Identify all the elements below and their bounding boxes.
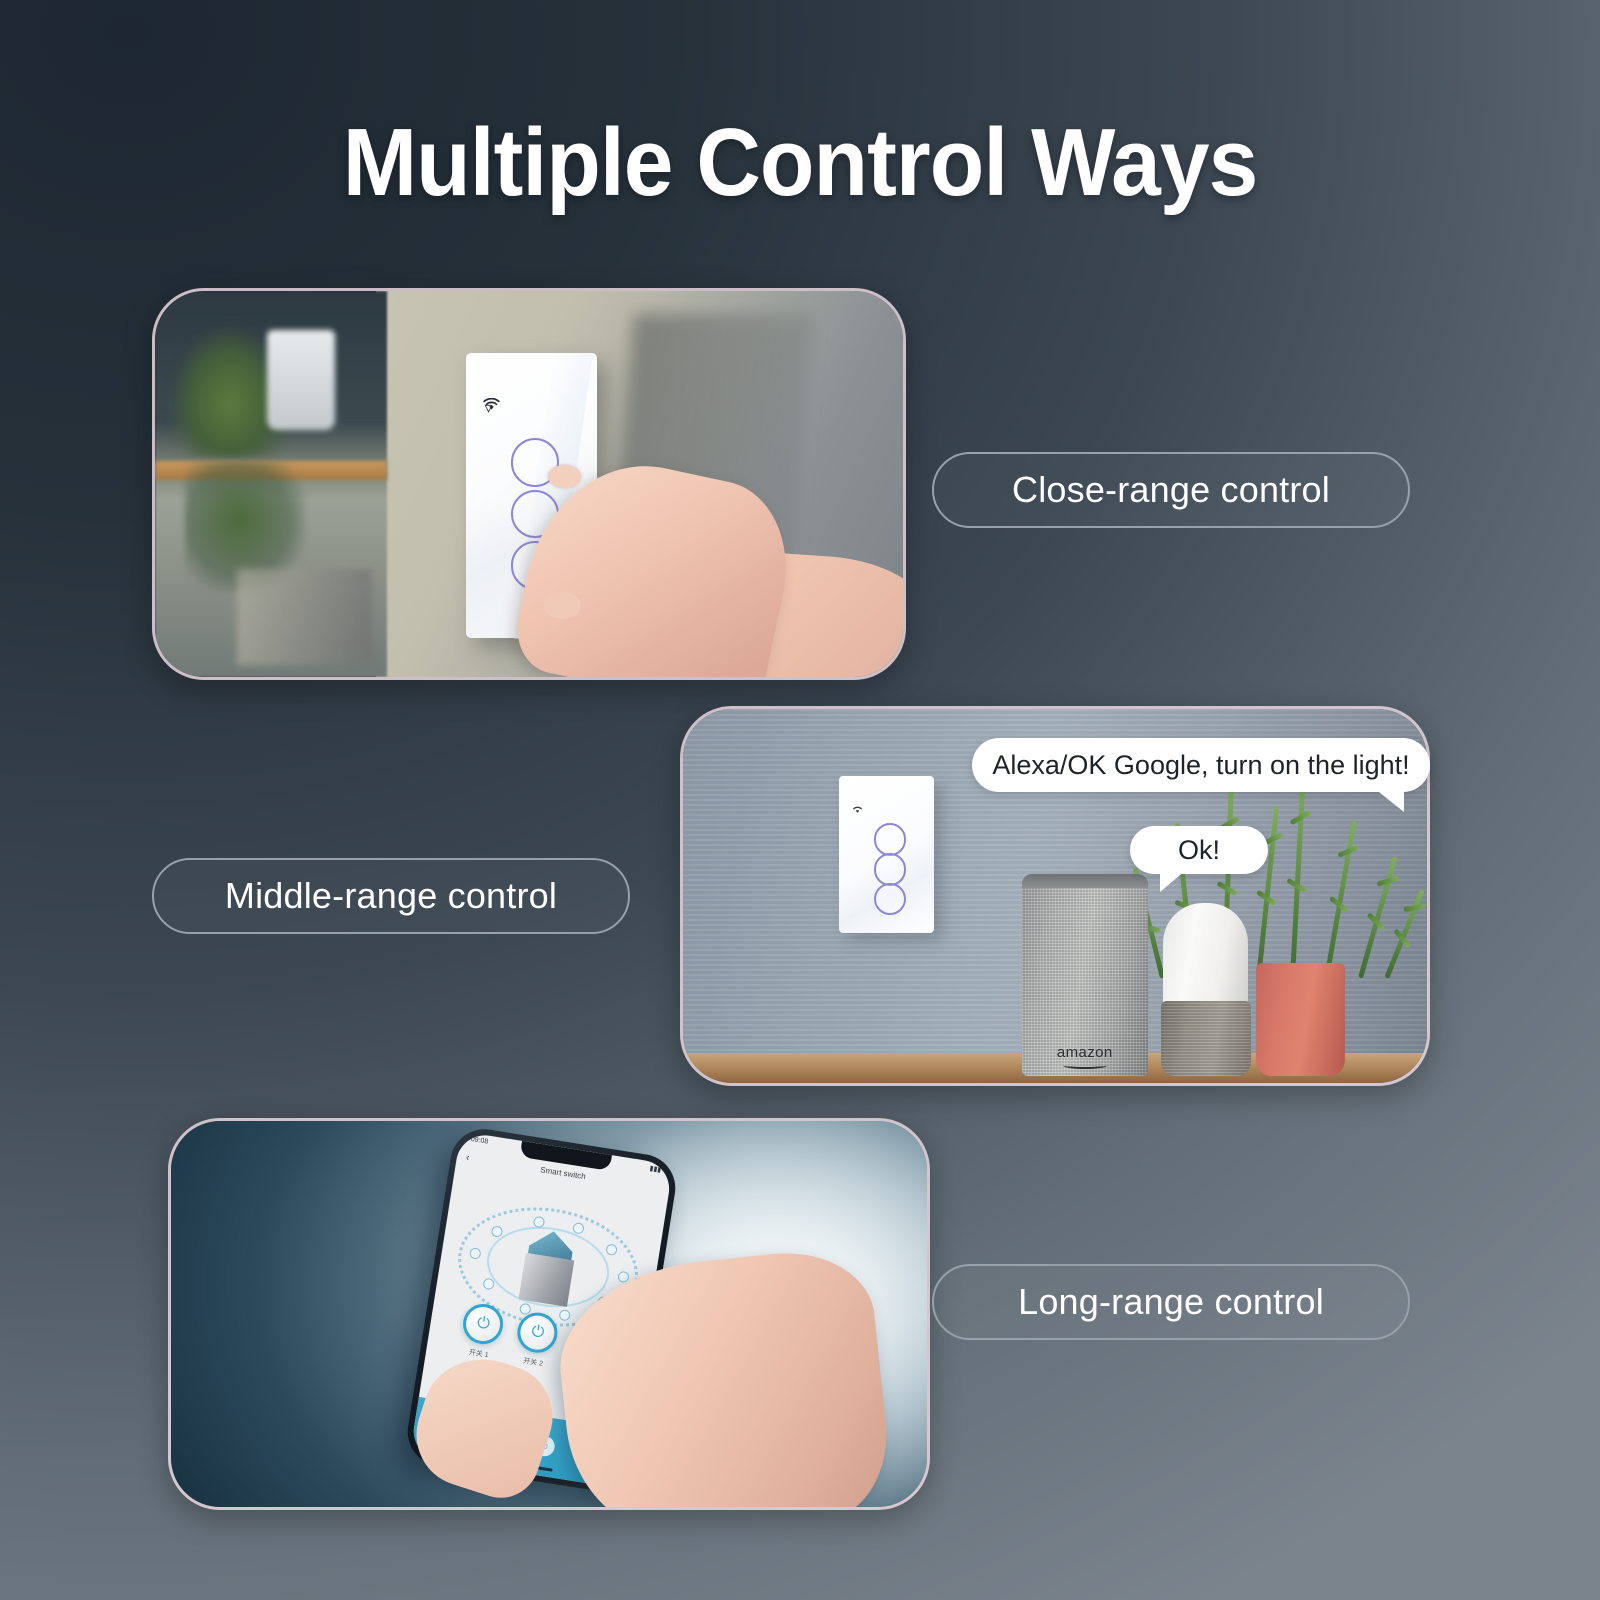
terracotta-pot: [1256, 963, 1345, 1075]
touch-button-1[interactable]: [874, 823, 906, 855]
wifi-icon: [851, 801, 864, 819]
house-icon: [512, 1227, 584, 1308]
toggle-1[interactable]: ⏻ 开关 1: [458, 1302, 506, 1363]
status-time: 09:08: [470, 1136, 489, 1147]
photo-close-range: ▿: [155, 291, 903, 677]
label-middle-range-control: Middle-range control: [152, 858, 630, 934]
infographic-canvas: Multiple Control Ways ▿: [0, 0, 1600, 1600]
status-icons: ▮▮▮: [649, 1165, 662, 1175]
page-title: Multiple Control Ways: [56, 108, 1544, 218]
amazon-smile-icon: [1063, 1062, 1107, 1069]
plant-sprig: [1290, 779, 1305, 979]
label-text: Close-range control: [1012, 469, 1330, 511]
label-close-range-control: Close-range control: [932, 452, 1410, 528]
wifi-icon: [483, 398, 500, 411]
photo-panel-long-range: 09:08 ▮▮▮ ‹ Smart switch: [168, 1118, 930, 1510]
power-icon[interactable]: ⏻: [461, 1302, 507, 1348]
smart-wall-switch[interactable]: [839, 776, 934, 933]
app-title-text: Smart switch: [540, 1165, 587, 1181]
photo-panel-close-range: ▿: [152, 288, 906, 680]
speaker-top: [1022, 874, 1148, 888]
house-body: [518, 1253, 574, 1306]
speech-bubble-command: Alexa/OK Google, turn on the light!: [972, 738, 1430, 792]
plant-sprig: [1324, 820, 1357, 979]
amazon-logo: amazon: [1022, 1044, 1148, 1069]
google-home-speaker[interactable]: [1163, 903, 1249, 1008]
photo-long-range: 09:08 ▮▮▮ ‹ Smart switch: [171, 1121, 927, 1507]
fingernail: [548, 465, 582, 488]
amazon-wordmark: amazon: [1057, 1044, 1113, 1061]
speech-bubble-response: Ok!: [1130, 826, 1268, 874]
label-text: Middle-range control: [225, 875, 557, 917]
mug-decor-icon: [267, 330, 334, 430]
jars-decor: [237, 569, 372, 666]
bubble-text: Alexa/OK Google, turn on the light!: [992, 750, 1409, 781]
power-icon[interactable]: ⏻: [515, 1310, 561, 1356]
amazon-echo-speaker[interactable]: amazon: [1022, 874, 1148, 1076]
label-long-range-control: Long-range control: [932, 1264, 1410, 1340]
google-home-base: [1161, 1001, 1251, 1076]
bubble-text: Ok!: [1178, 835, 1220, 866]
touch-button-2[interactable]: [874, 853, 906, 885]
touch-button-3[interactable]: [874, 883, 906, 915]
label-text: Long-range control: [1018, 1281, 1324, 1323]
wifi-icon: [483, 398, 500, 414]
toggle-2[interactable]: ⏻ 开关 2: [513, 1310, 561, 1371]
